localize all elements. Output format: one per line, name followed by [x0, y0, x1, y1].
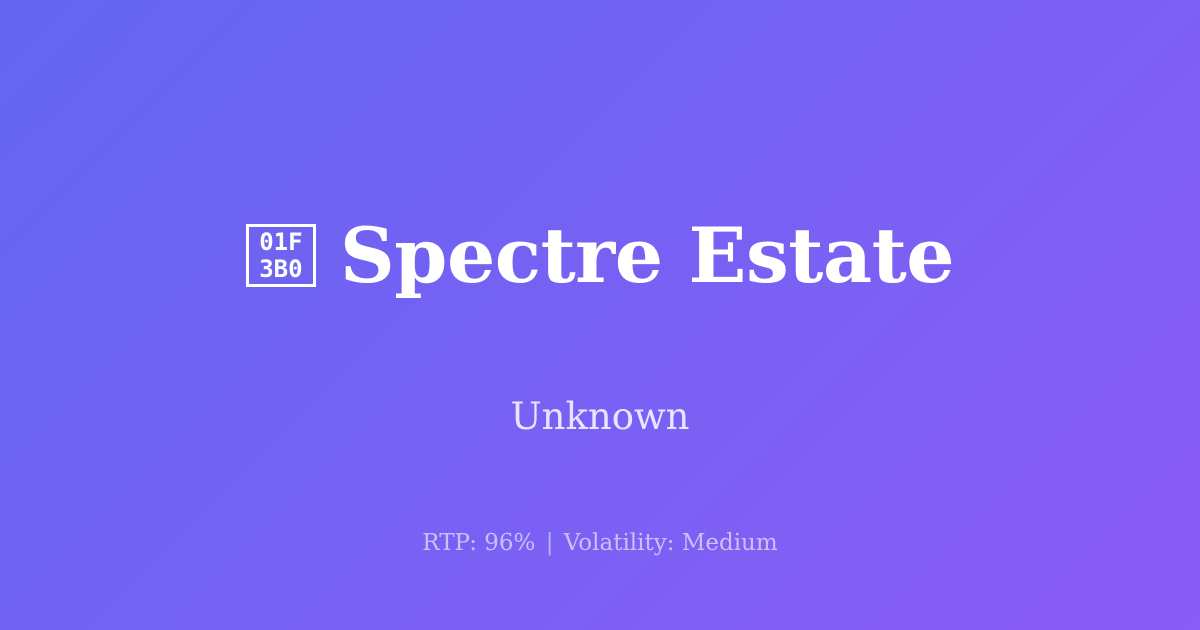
rtp-value: 96% [484, 530, 535, 556]
tofu-glyph-stack: 01F 3B0 [259, 229, 302, 283]
game-meta-line: RTP: 96% | Volatility: Medium [0, 530, 1200, 558]
page-title: Spectre Estate [340, 217, 954, 295]
tofu-codepoint-high: 01F [259, 229, 302, 256]
slot-machine-icon: 01F 3B0 [246, 224, 316, 287]
volatility-value: Medium [682, 530, 778, 556]
rtp-label: RTP: [422, 530, 477, 556]
volatility-label: Volatility: [564, 530, 675, 556]
meta-separator: | [543, 530, 557, 556]
game-provider-subtitle: Unknown [510, 397, 689, 438]
title-row: 01F 3B0 Spectre Estate [246, 166, 954, 345]
tofu-codepoint-low: 3B0 [259, 256, 302, 283]
game-og-card: 01F 3B0 Spectre Estate Unknown RTP: 96% … [0, 0, 1200, 630]
